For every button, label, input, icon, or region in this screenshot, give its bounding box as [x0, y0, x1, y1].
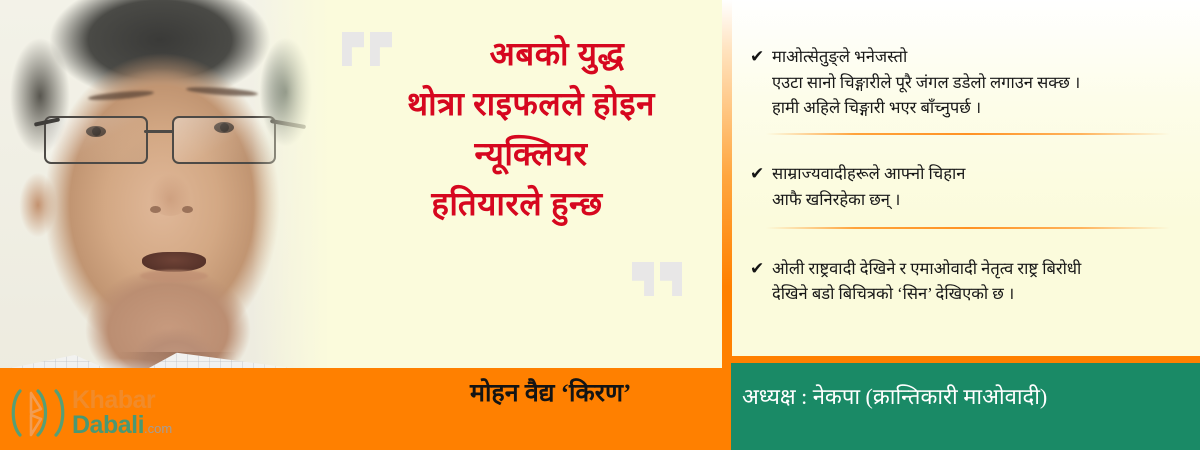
site-logo[interactable]: Khabar Dabali.com	[8, 382, 220, 444]
bullet-1-line-3: हामी अहिले चिङ्गारी भएर बाँच्नुपर्छ ।	[772, 95, 1188, 121]
bullet-list-panel: ✔ माओत्सेतुङ्ले भनेजस्तो एउटा सानो चिङ्ग…	[732, 0, 1200, 368]
list-item: ✔ ओली राष्ट्रवादी देखिने र एमाओवादी नेतृ…	[732, 229, 1200, 307]
news-quote-banner: अबको युद्ध थोत्रा राइफलले होइन न्यूक्लिय…	[0, 0, 1200, 450]
bullet-3-line-1: ओली राष्ट्रवादी देखिने र एमाओवादी नेतृत्…	[772, 256, 1188, 282]
quote-line-4: हतियारले हुन्छ	[340, 180, 722, 230]
glasses-bridge	[144, 130, 174, 133]
bullet-2-line-2: आफै खनिरहेका छन् ।	[772, 187, 1188, 213]
footer-orange-strip	[731, 356, 1200, 363]
check-icon: ✔	[750, 256, 772, 280]
nostril-left	[150, 206, 161, 213]
quote-line-2: थोत्रा राइफलले होइन	[340, 80, 722, 130]
logo-wordmark: Khabar Dabali.com	[72, 388, 220, 438]
bullet-3-line-2: देखिने बडो बिचित्रको ‘सिन’ देखिएको छ ।	[772, 281, 1188, 307]
bullet-text-3: ओली राष्ट्रवादी देखिने र एमाओवादी नेतृत्…	[772, 256, 1188, 307]
khabardabali-k-monogram-icon	[8, 385, 68, 441]
quote-panel: अबको युद्ध थोत्रा राइफलले होइन न्यूक्लिय…	[340, 0, 722, 368]
quote-line-3: न्यूक्लियर	[340, 130, 722, 180]
speaker-title: अध्यक्ष : नेकपा (क्रान्तिकारी माओवादी)	[742, 384, 1047, 410]
quote-text: अबको युद्ध थोत्रा राइफलले होइन न्यूक्लिय…	[340, 30, 722, 231]
bullet-1-line-2: एउटा सानो चिङ्गारीले पूरै जंगल डडेलो लगा…	[772, 70, 1188, 96]
lower-lip	[140, 270, 208, 282]
logo-word-khabar: Khabar	[72, 388, 220, 413]
bullet-2-line-1: साम्राज्यवादीहरूले आफ्नो चिहान	[772, 161, 1188, 187]
list-item: ✔ साम्राज्यवादीहरूले आफ्नो चिहान आफै खनि…	[732, 135, 1200, 212]
bullet-text-1: माओत्सेतुङ्ले भनेजस्तो एउटा सानो चिङ्गार…	[772, 44, 1188, 121]
mouth	[142, 252, 206, 272]
vertical-divider	[722, 0, 732, 368]
check-icon: ✔	[750, 161, 772, 185]
speaker-name: मोहन वैद्य ‘किरण’	[470, 379, 728, 409]
quote-line-1: अबको युद्ध	[340, 30, 722, 80]
logo-tld: .com	[144, 421, 172, 436]
close-quote-mark-icon-2	[660, 262, 682, 296]
lens-left	[44, 116, 148, 164]
list-item: ✔ माओत्सेतुङ्ले भनेजस्तो एउटा सानो चिङ्ग…	[732, 0, 1200, 121]
check-icon: ✔	[750, 44, 772, 68]
nostril-right	[182, 206, 193, 213]
bullet-text-2: साम्राज्यवादीहरूले आफ्नो चिहान आफै खनिरह…	[772, 161, 1188, 212]
close-quote-mark-icon	[632, 262, 654, 296]
logo-word-dabali: Dabali	[72, 411, 144, 439]
bullet-1-line-1: माओत्सेतुङ्ले भनेजस्तो	[772, 44, 1188, 70]
